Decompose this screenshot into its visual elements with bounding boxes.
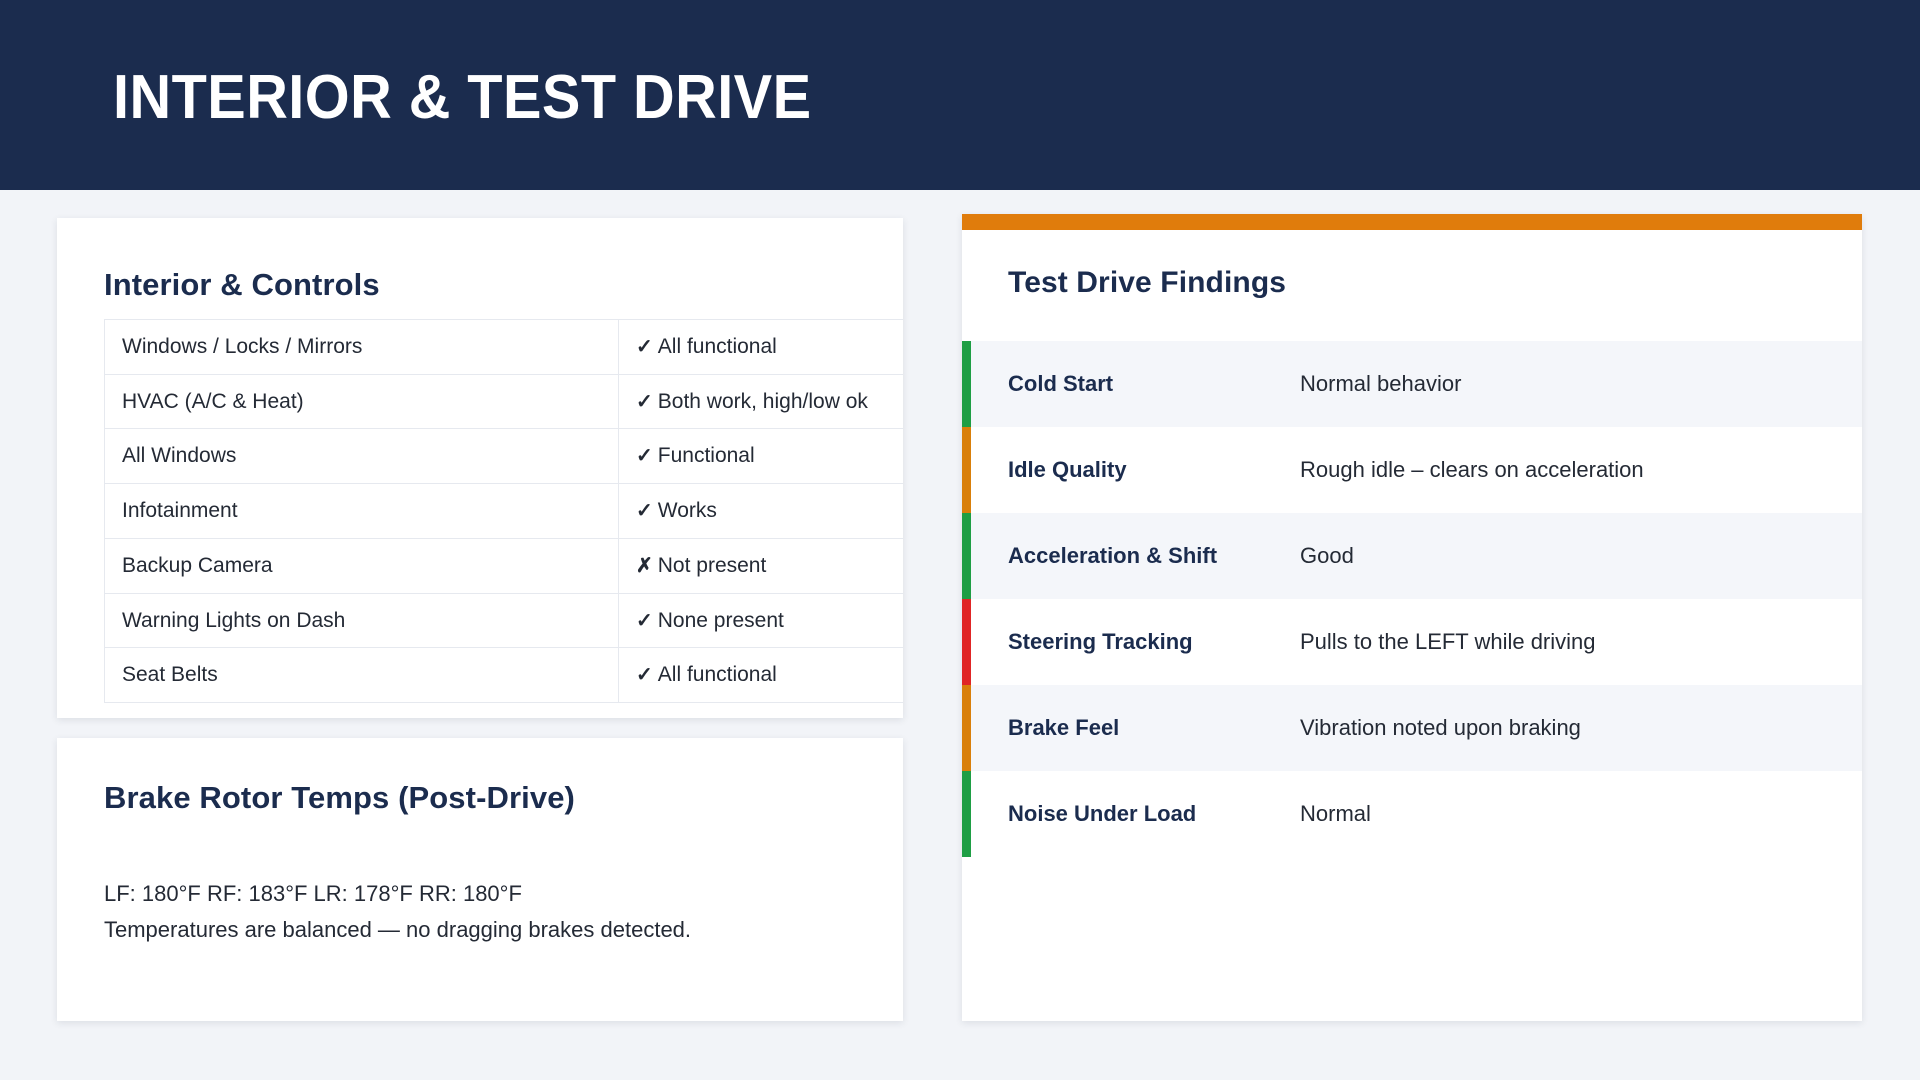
spec-item-status: ✗Not present — [619, 538, 904, 593]
check-icon: ✓ — [636, 389, 653, 415]
test-drive-findings-card: Test Drive Findings Cold StartNormal beh… — [962, 214, 1862, 1021]
test-drive-card-heading: Test Drive Findings — [1008, 266, 1286, 300]
finding-row: Noise Under LoadNormal — [962, 771, 1862, 857]
finding-row: Brake FeelVibration noted upon braking — [962, 685, 1862, 771]
table-row: Windows / Locks / Mirrors✓All functional — [105, 320, 904, 375]
check-icon: ✓ — [636, 662, 653, 688]
finding-label: Brake Feel — [962, 715, 1300, 741]
finding-label: Cold Start — [962, 371, 1300, 397]
spec-item-label: Windows / Locks / Mirrors — [105, 320, 619, 375]
finding-label: Idle Quality — [962, 457, 1300, 483]
table-row: Warning Lights on Dash✓None present — [105, 593, 904, 648]
finding-value: Normal behavior — [1300, 371, 1461, 397]
finding-value: Pulls to the LEFT while driving — [1300, 629, 1596, 655]
check-icon: ✓ — [636, 443, 653, 469]
finding-label: Steering Tracking — [962, 629, 1300, 655]
finding-row: Idle QualityRough idle – clears on accel… — [962, 427, 1862, 513]
status-accent-bar — [962, 427, 971, 513]
brake-card-heading: Brake Rotor Temps (Post-Drive) — [104, 780, 575, 816]
spec-item-status: ✓None present — [619, 593, 904, 648]
brake-note: Temperatures are balanced — no dragging … — [104, 912, 864, 948]
table-row: Seat Belts✓All functional — [105, 648, 904, 703]
finding-value: Good — [1300, 543, 1354, 569]
spec-item-label: Seat Belts — [105, 648, 619, 703]
finding-row: Steering TrackingPulls to the LEFT while… — [962, 599, 1862, 685]
spec-status-text: Works — [658, 499, 717, 522]
spec-status-text: All functional — [658, 663, 777, 686]
test-drive-findings-list: Cold StartNormal behaviorIdle QualityRou… — [962, 341, 1862, 857]
spec-item-label: All Windows — [105, 429, 619, 484]
finding-row: Cold StartNormal behavior — [962, 341, 1862, 427]
spec-item-status: ✓Both work, high/low ok — [619, 374, 904, 429]
finding-value: Rough idle – clears on acceleration — [1300, 457, 1644, 483]
interior-card-heading: Interior & Controls — [104, 267, 380, 303]
finding-value: Normal — [1300, 801, 1371, 827]
brake-card-body: LF: 180°F RF: 183°F LR: 178°F RR: 180°F … — [104, 876, 864, 947]
status-accent-bar — [962, 513, 971, 599]
finding-row: Acceleration & ShiftGood — [962, 513, 1862, 599]
brake-temps-line: LF: 180°F RF: 183°F LR: 178°F RR: 180°F — [104, 876, 864, 912]
spec-item-status: ✓All functional — [619, 648, 904, 703]
spec-status-text: None present — [658, 609, 784, 632]
status-accent-bar — [962, 341, 971, 427]
spec-status-text: Not present — [658, 554, 767, 577]
finding-label: Acceleration & Shift — [962, 543, 1300, 569]
check-icon: ✓ — [636, 334, 653, 360]
spec-item-label: Warning Lights on Dash — [105, 593, 619, 648]
table-row: HVAC (A/C & Heat)✓Both work, high/low ok — [105, 374, 904, 429]
finding-value: Vibration noted upon braking — [1300, 715, 1581, 741]
spec-item-label: HVAC (A/C & Heat) — [105, 374, 619, 429]
spec-status-text: Both work, high/low ok — [658, 390, 868, 413]
spec-item-label: Backup Camera — [105, 538, 619, 593]
status-accent-bar — [962, 771, 971, 857]
spec-item-status: ✓Functional — [619, 429, 904, 484]
spec-status-text: Functional — [658, 444, 755, 467]
status-accent-bar — [962, 685, 971, 771]
page-title: INTERIOR & TEST DRIVE — [113, 62, 812, 133]
table-row: All Windows✓Functional — [105, 429, 904, 484]
status-accent-bar — [962, 599, 971, 685]
interior-spec-table: Windows / Locks / Mirrors✓All functional… — [104, 319, 903, 703]
brake-rotor-temps-card: Brake Rotor Temps (Post-Drive) LF: 180°F… — [57, 738, 903, 1021]
check-icon: ✓ — [636, 608, 653, 634]
spec-item-label: Infotainment — [105, 484, 619, 539]
spec-status-text: All functional — [658, 335, 777, 358]
cross-icon: ✗ — [636, 553, 653, 579]
spec-item-status: ✓Works — [619, 484, 904, 539]
spec-item-status: ✓All functional — [619, 320, 904, 375]
card-top-accent-bar — [962, 214, 1862, 230]
page-header: INTERIOR & TEST DRIVE — [0, 0, 1920, 190]
interior-controls-card: Interior & Controls Windows / Locks / Mi… — [57, 218, 903, 718]
table-row: Infotainment✓Works — [105, 484, 904, 539]
finding-label: Noise Under Load — [962, 801, 1300, 827]
check-icon: ✓ — [636, 498, 653, 524]
table-row: Backup Camera✗Not present — [105, 538, 904, 593]
